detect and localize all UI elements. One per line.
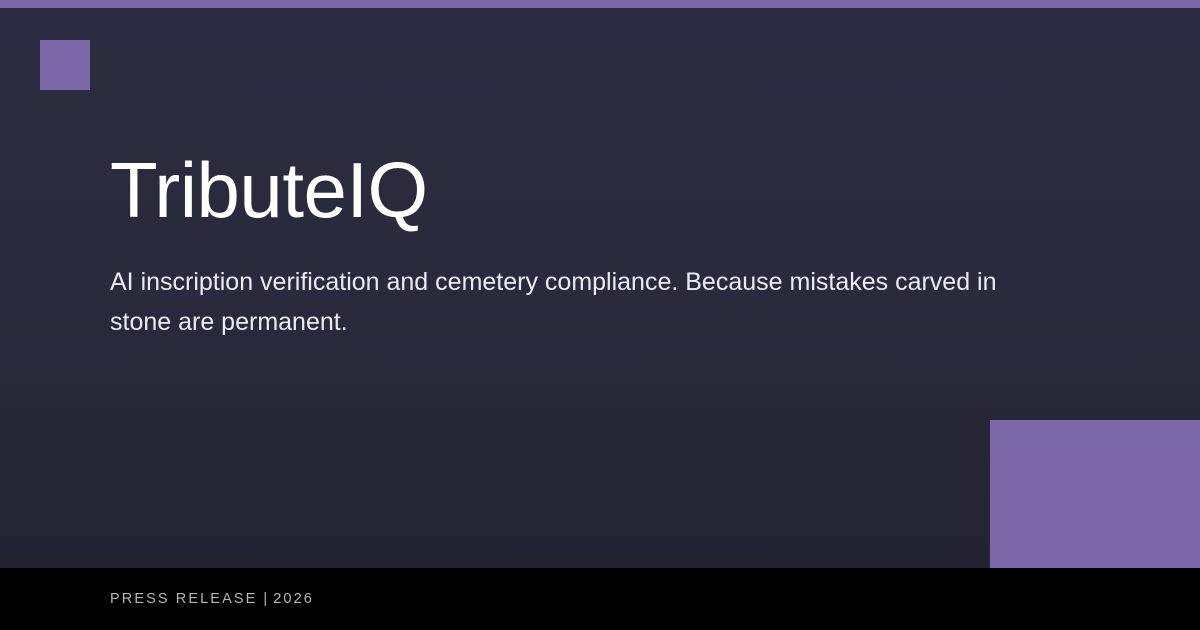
page-title: TributeIQ bbox=[110, 150, 1030, 232]
footer-separator: | bbox=[257, 591, 273, 607]
page-subtitle: AI inscription verification and cemetery… bbox=[110, 232, 1010, 343]
footer-label: PRESS RELEASE bbox=[110, 591, 257, 607]
top-accent-bar bbox=[0, 0, 1200, 8]
footer-year: 2026 bbox=[273, 591, 314, 607]
footer-bar: PRESS RELEASE | 2026 bbox=[0, 568, 1200, 630]
corner-accent-block bbox=[990, 420, 1200, 568]
logo-square-icon bbox=[40, 40, 90, 90]
footer-meta: PRESS RELEASE | 2026 bbox=[0, 591, 314, 607]
title-card-slide: TributeIQ AI inscription verification an… bbox=[0, 0, 1200, 630]
content-block: TributeIQ AI inscription verification an… bbox=[110, 150, 1030, 343]
